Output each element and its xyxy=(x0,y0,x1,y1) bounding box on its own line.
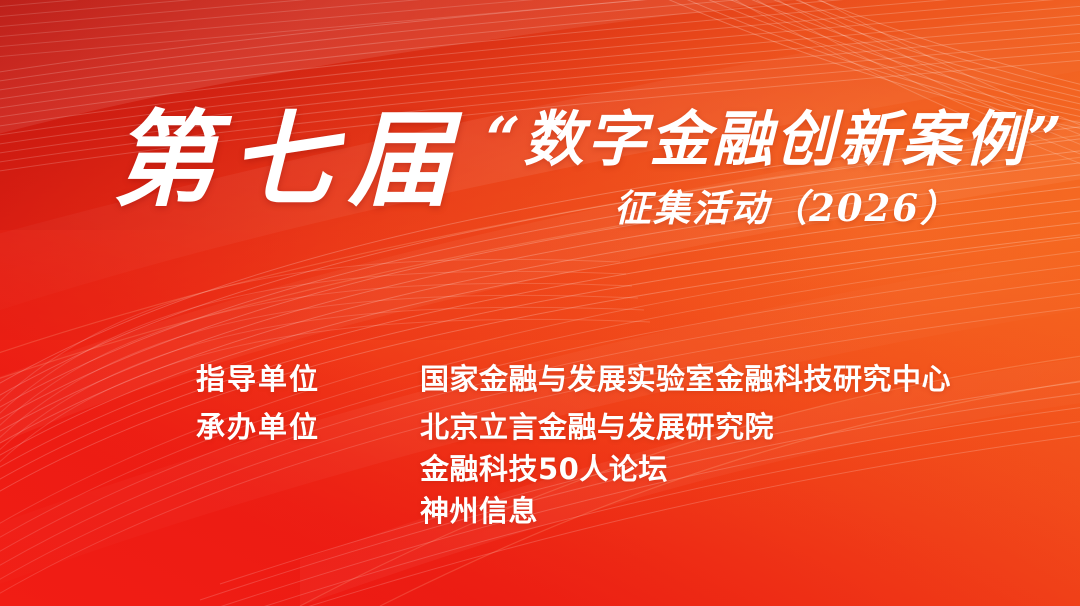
credit-label-organizers: 承办单位 xyxy=(196,406,420,448)
credits-block: 指导单位 国家金融与发展实验室金融科技研究中心 承办单位 北京立言金融与发展研究… xyxy=(196,358,1036,538)
credit-row-organizers: 承办单位 北京立言金融与发展研究院 金融科技50人论坛 神州信息 xyxy=(196,406,1036,532)
poster-banner: 第七届 “数字金融创新案例” 征集活动（2026） 指导单位 国家金融与发展实验… xyxy=(0,0,1080,606)
subtitle-campaign-year: 征集活动（2026） xyxy=(614,190,959,227)
main-title-edition: 第七届 xyxy=(112,108,466,212)
credit-value-guidance-1: 国家金融与发展实验室金融科技研究中心 xyxy=(420,358,1036,400)
theme-title-quoted: “数字金融创新案例” xyxy=(486,110,1065,170)
credit-values-organizers: 北京立言金融与发展研究院 金融科技50人论坛 神州信息 xyxy=(420,406,1036,532)
credit-row-guidance: 指导单位 国家金融与发展实验室金融科技研究中心 xyxy=(196,358,1036,400)
title-area: 第七届 “数字金融创新案例” 征集活动（2026） xyxy=(0,0,1080,260)
credit-values-guidance: 国家金融与发展实验室金融科技研究中心 xyxy=(420,358,1036,400)
credit-label-guidance: 指导单位 xyxy=(196,358,420,400)
credit-value-organizer-3: 神州信息 xyxy=(420,490,1036,532)
credit-value-organizer-1: 北京立言金融与发展研究院 xyxy=(420,406,1036,448)
credit-value-organizer-2: 金融科技50人论坛 xyxy=(420,448,1036,490)
